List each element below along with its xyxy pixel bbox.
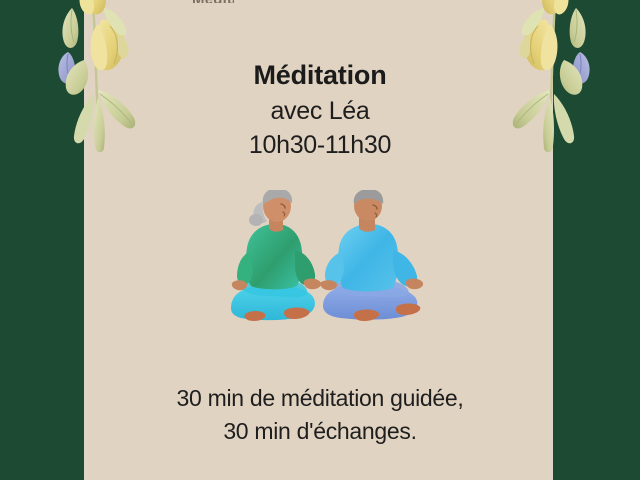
instructor-line: avec Léa bbox=[0, 95, 640, 129]
meditation-figures-svg bbox=[225, 190, 447, 338]
poster-canvas: Méditation Méditation avec Léa 10h30-11h… bbox=[0, 0, 640, 480]
figure-woman bbox=[231, 190, 321, 321]
footer-line-1: 30 min de méditation guidée, bbox=[0, 382, 640, 415]
footer-line-2: 30 min d'échanges. bbox=[0, 415, 640, 448]
meditation-illustration bbox=[225, 190, 447, 338]
session-time: 10h30-11h30 bbox=[0, 129, 640, 163]
footer-block: 30 min de méditation guidée, 30 min d'éc… bbox=[0, 382, 640, 449]
figure-man bbox=[320, 190, 423, 321]
heading-block: Méditation avec Léa 10h30-11h30 bbox=[0, 60, 640, 163]
cropped-top-text: Méditation bbox=[192, 0, 234, 3]
page-title: Méditation bbox=[0, 60, 640, 91]
